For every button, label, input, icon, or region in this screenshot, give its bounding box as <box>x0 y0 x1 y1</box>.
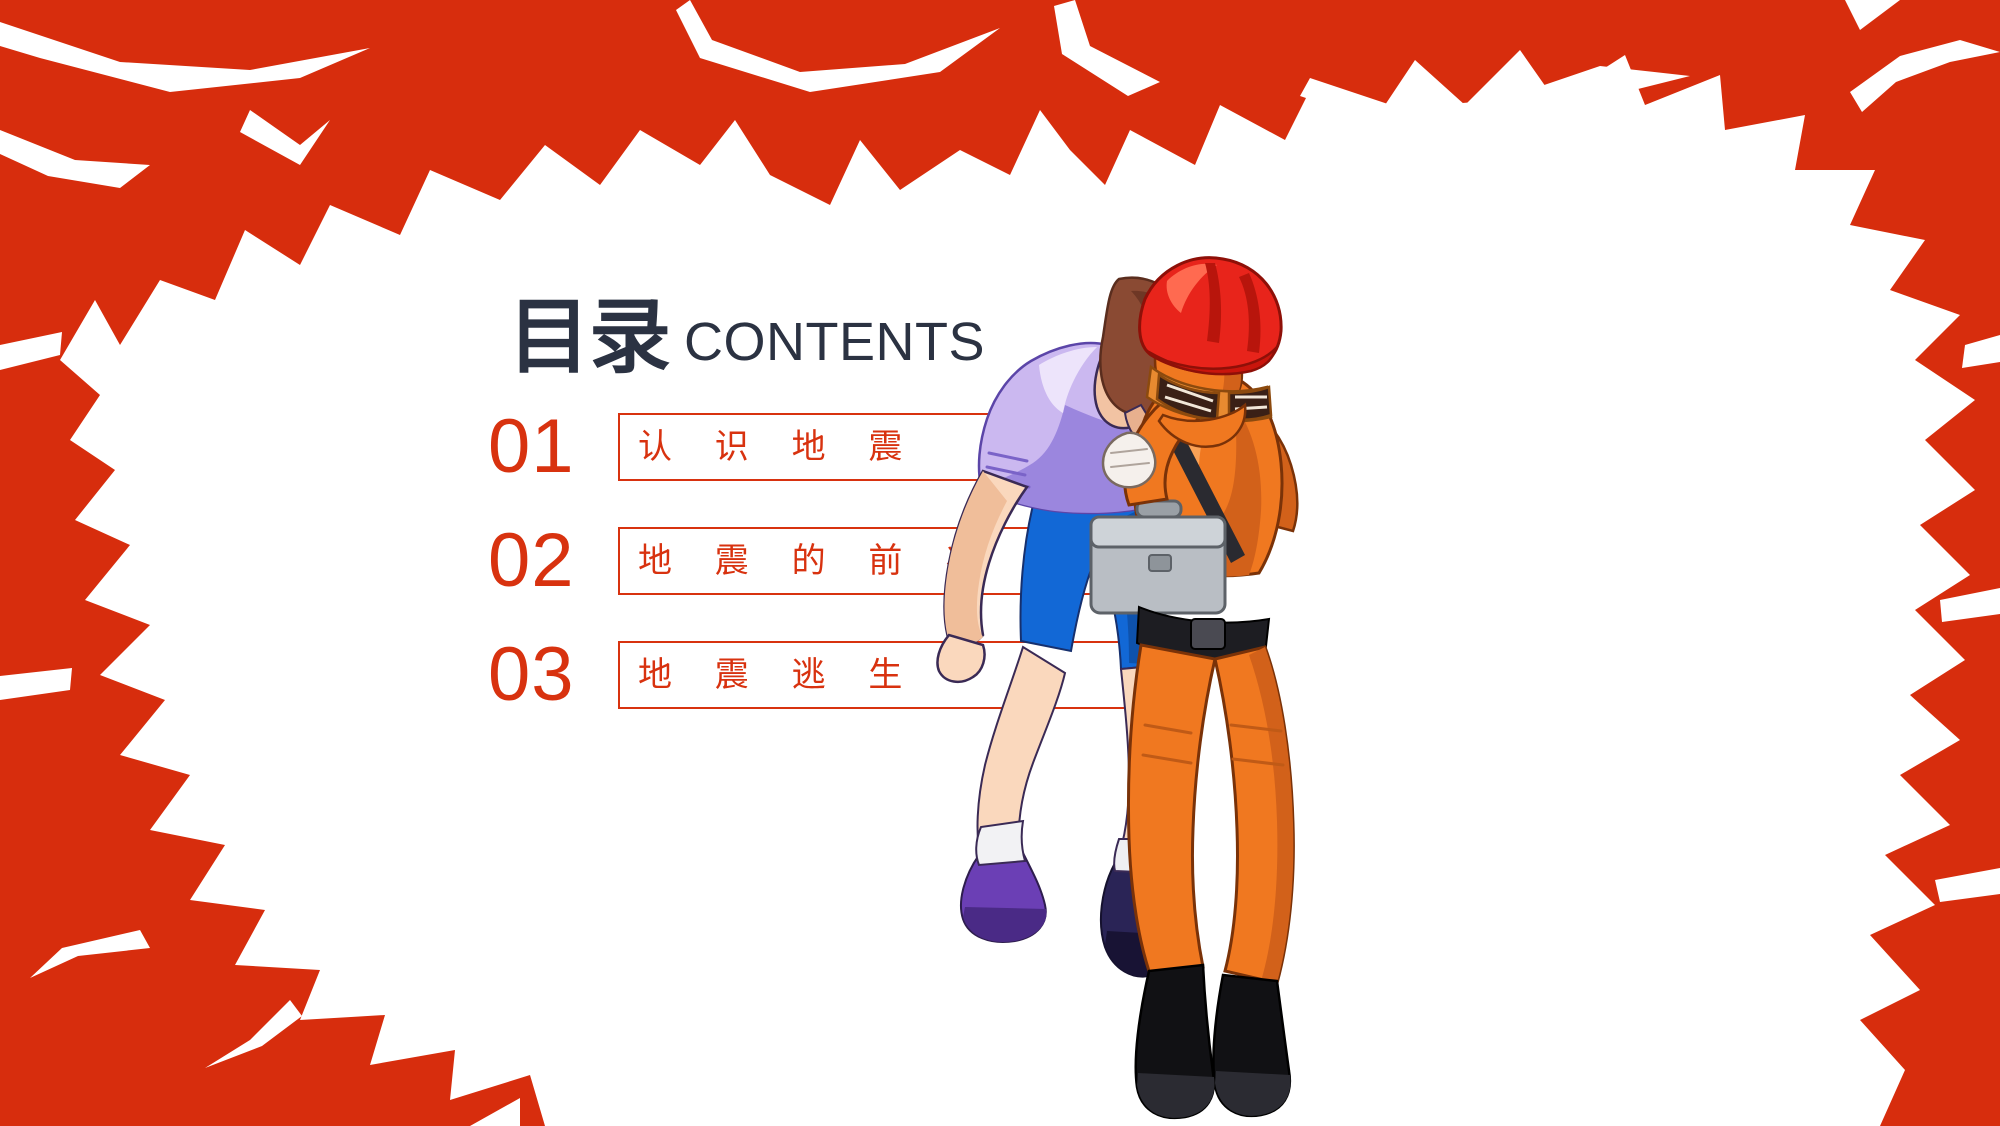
rescuer-belt-buckle <box>1191 619 1225 649</box>
victim-arm-shade <box>945 471 1008 644</box>
victim-hand <box>937 635 984 682</box>
toc-label-03: 地 震 逃 生 <box>638 658 918 692</box>
rescuer-leg-back <box>1129 645 1216 977</box>
victim-shoe-purple-sole <box>963 907 1046 942</box>
toc-number-01: 01 <box>488 409 592 485</box>
rescuer-boot-sole-back <box>1137 1073 1215 1118</box>
toc-number-02: 02 <box>488 523 592 599</box>
toc-number-03: 03 <box>488 637 592 713</box>
rescuer-toolbox-latch <box>1149 555 1171 571</box>
earthquake-rescue-illustration <box>915 255 1395 1125</box>
page-title-cn: 目录 <box>508 300 670 375</box>
rescuer-boot-sole-front <box>1215 1071 1291 1116</box>
victim-sock-white <box>976 821 1025 865</box>
toc-label-01: 认 识 地 震 <box>638 430 918 464</box>
slide-root: 目录 CONTENTS 01 认 识 地 震 02 地 震 的 前 兆 03 地… <box>0 0 2000 1126</box>
rescuer-toolbox-lid <box>1091 517 1225 547</box>
